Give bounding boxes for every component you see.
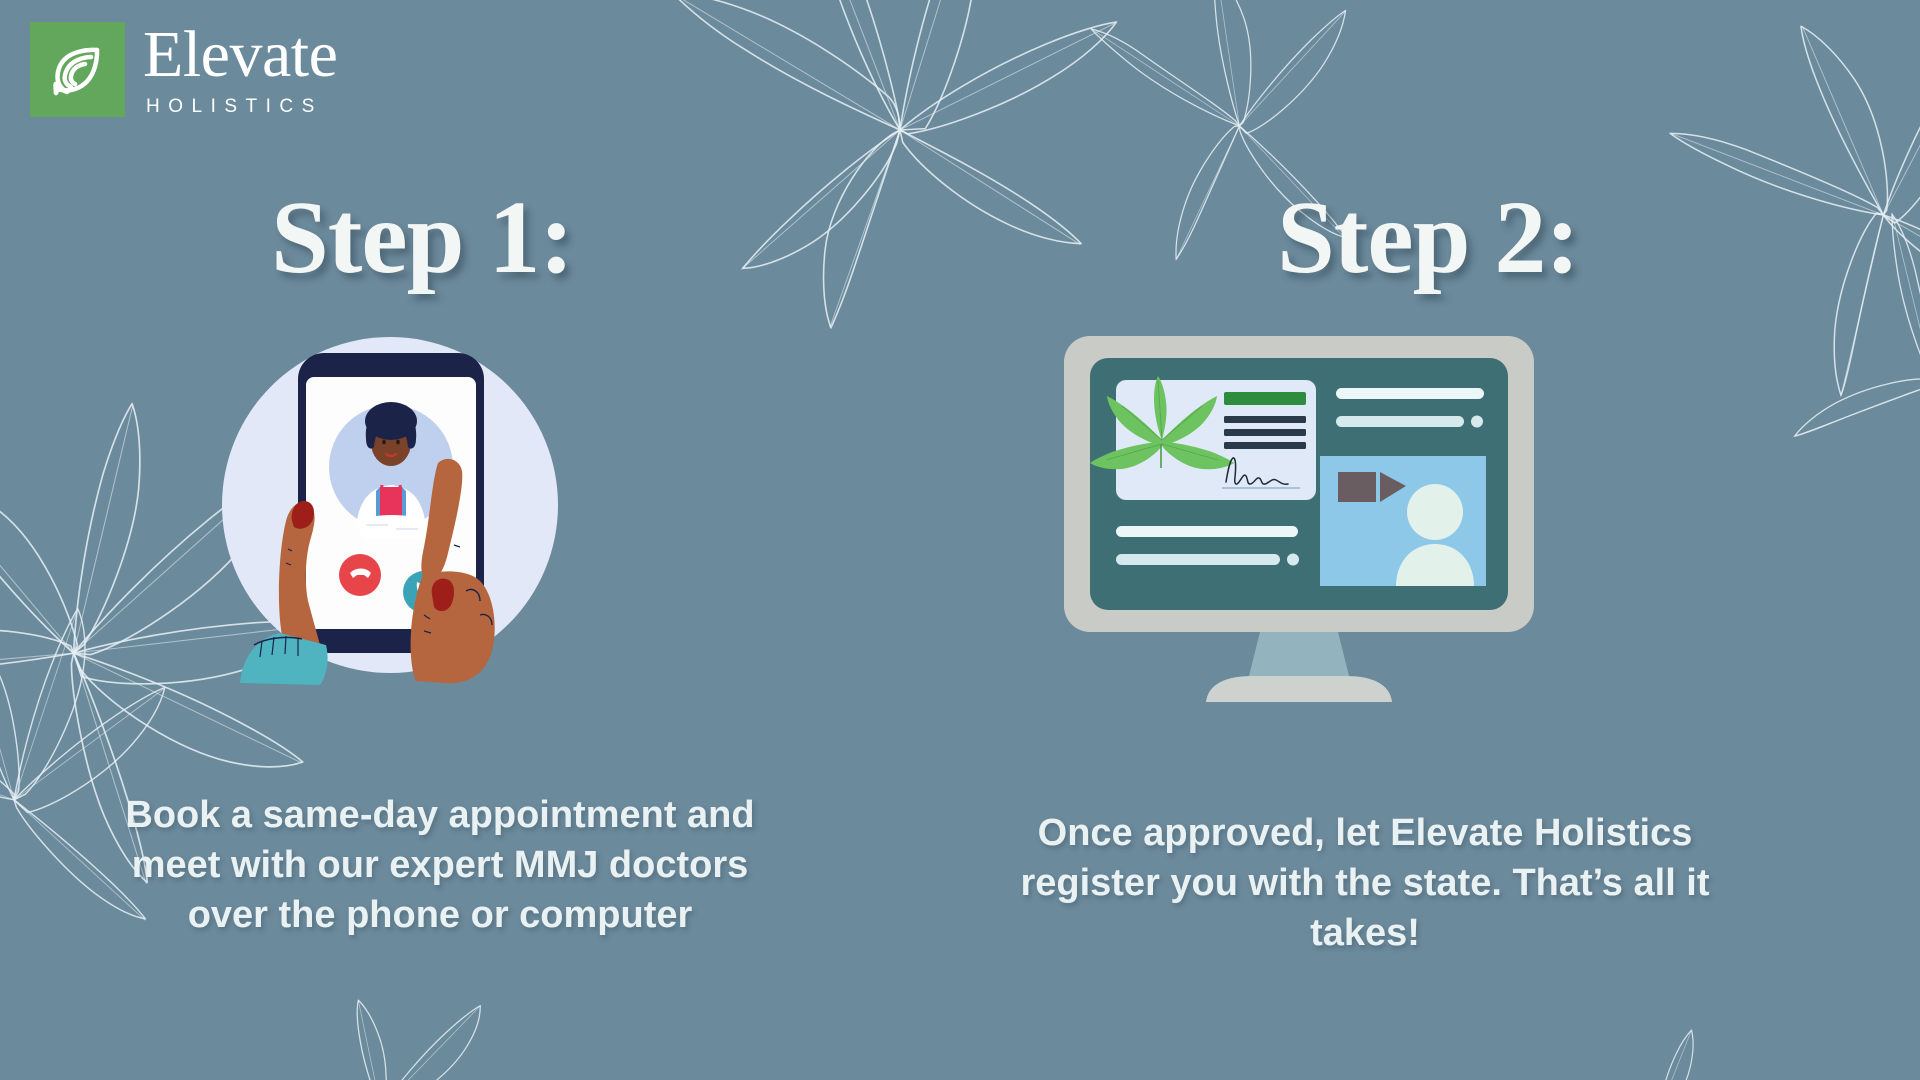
step-2-heading: Step 2: (948, 186, 1908, 290)
step-2-illustration (1040, 330, 1560, 710)
brand-tagline: HOLISTICS (146, 97, 337, 116)
decline-call-button (339, 554, 381, 596)
mmj-card (1090, 376, 1316, 500)
leaf-icon (30, 22, 125, 117)
step-1-heading: Step 1: (0, 186, 902, 290)
step-2: Step 2: (960, 0, 1920, 1080)
step-1-caption: Book a same-day appointment and meet wit… (95, 790, 785, 940)
step-1: Step 1: (0, 0, 960, 1080)
brand-name: Elevate (143, 23, 337, 88)
step-1-illustration (170, 310, 610, 690)
steps-container: Step 1: (0, 0, 1920, 1080)
video-call-panel (1320, 456, 1486, 586)
brand-logo: Elevate HOLISTICS (30, 22, 337, 117)
step-2-caption: Once approved, let Elevate Holistics reg… (1020, 808, 1710, 958)
